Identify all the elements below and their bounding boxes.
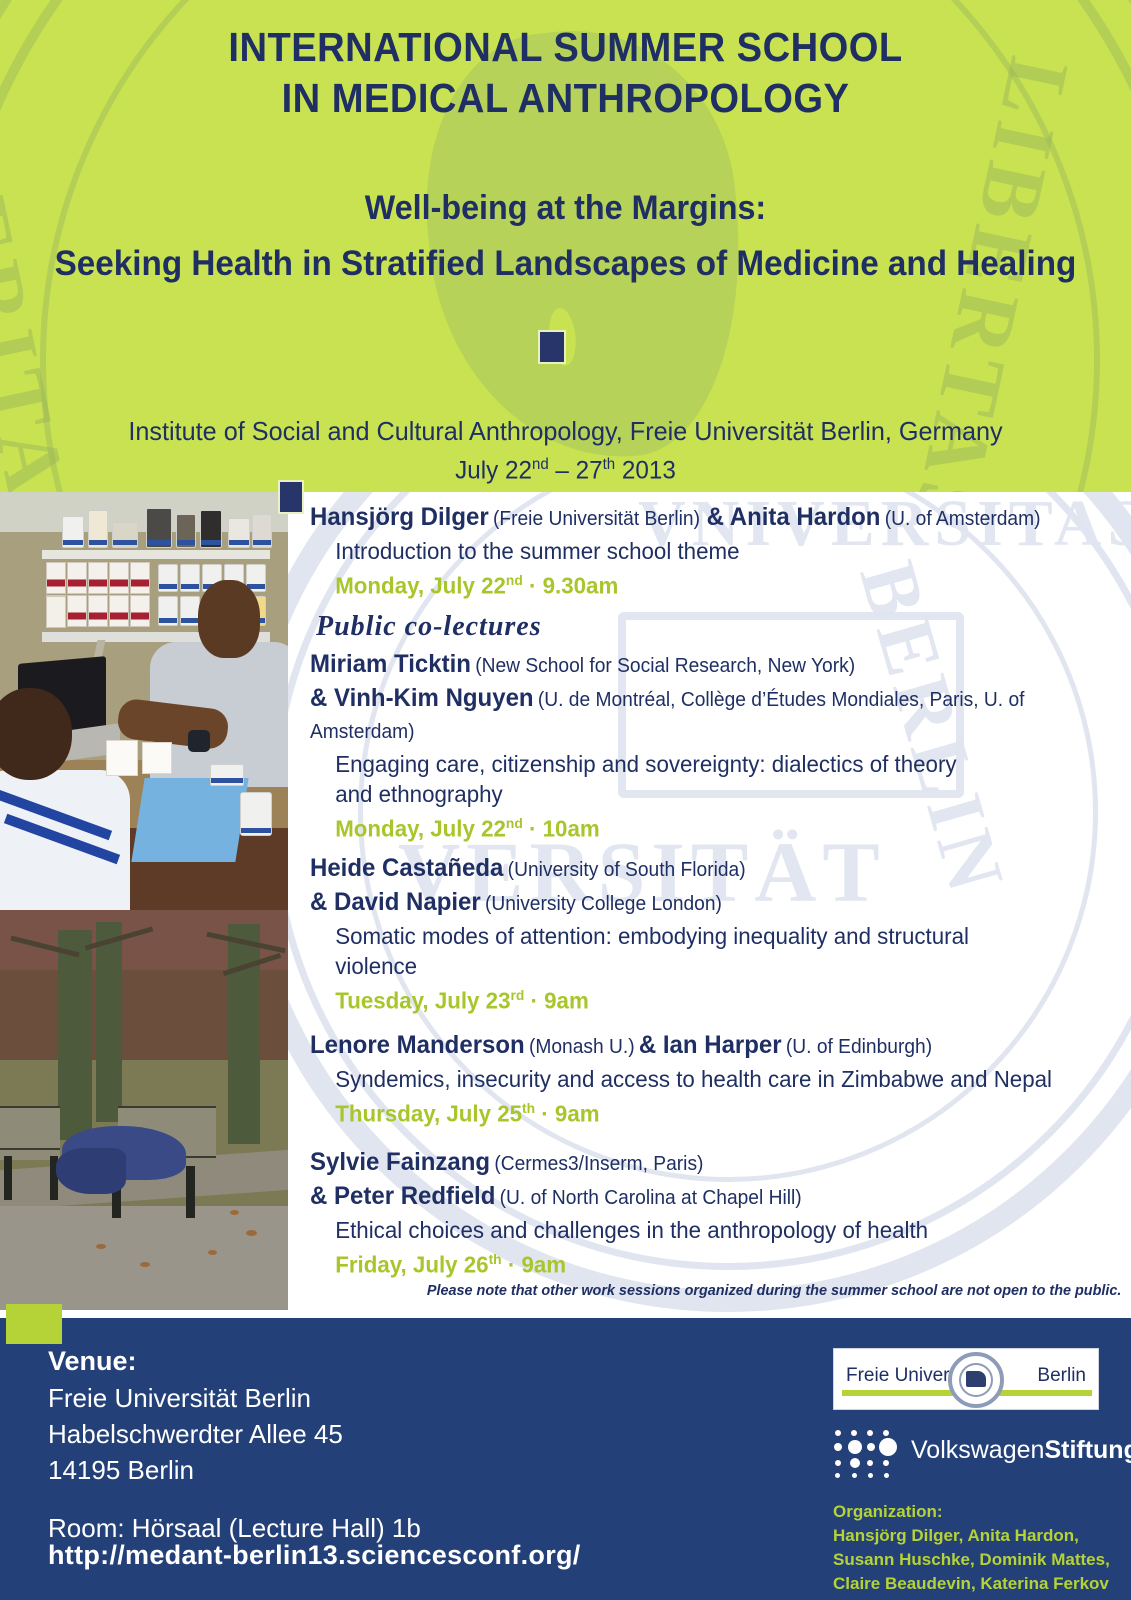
poster-subtitle: Well-being at the Margins: Seeking Healt…	[28, 180, 1102, 292]
lecture-time: · 9.30am	[523, 573, 618, 599]
vw-logo-dot-grid-icon	[833, 1428, 901, 1480]
lecture-title: Ethical choices and challenges in the an…	[310, 1215, 1096, 1245]
date-mid: – 27	[549, 456, 603, 484]
date-suffix: 2013	[615, 456, 676, 484]
organization-block: Organization: Hansjörg Dilger, Anita Har…	[833, 1500, 1110, 1596]
page-title: INTERNATIONAL SUMMER SCHOOL IN MEDICAL A…	[40, 22, 1092, 124]
lecture-date-ordinal: nd	[506, 816, 523, 832]
speaker-name: & Ian Harper	[639, 1031, 782, 1059]
speaker-name: Anita Hardon	[730, 503, 881, 531]
organization-label: Organization:	[833, 1500, 1110, 1524]
speaker-name: & Peter Redfield	[310, 1182, 495, 1210]
lecture-time: · 9am	[524, 988, 588, 1014]
date-ordinal-1: nd	[532, 456, 549, 473]
lecture-date-prefix: Tuesday, July 23	[335, 988, 510, 1014]
lecture-date-prefix: Monday, July 22	[335, 815, 506, 841]
lecture-datetime: Monday, July 22nd · 9.30am	[310, 566, 1096, 601]
venue-line-2: Habelschwerdter Allee 45	[48, 1416, 421, 1452]
venue-block: Venue: Freie Universität Berlin Habelsch…	[48, 1342, 421, 1546]
speaker-line: Sylvie Fainzang (Cermes3/Inserm, Paris)	[310, 1147, 1088, 1181]
program-entry-3: Lenore Manderson (Monash U.) & Ian Harpe…	[310, 1030, 1120, 1129]
section-heading-public-co-lectures: Public co-lectures	[316, 611, 1120, 643]
speaker-line: Lenore Manderson (Monash U.) & Ian Harpe…	[310, 1030, 1088, 1064]
lecture-title-cont: and ethnography	[310, 779, 1096, 809]
website-url-link[interactable]: http://medant-berlin13.sciencesconf.org/	[48, 1540, 581, 1571]
lecture-title-cont: violence	[310, 951, 1096, 981]
decorative-green-chip	[6, 1304, 62, 1344]
speaker-affiliation: (University College London)	[485, 893, 722, 915]
fu-logo-text-right: Berlin	[1037, 1365, 1086, 1387]
lecture-title: Introduction to the summer school theme	[310, 536, 1096, 566]
lecture-title: Syndemics, insecurity and access to heal…	[310, 1064, 1096, 1094]
institute-line: Institute of Social and Cultural Anthrop…	[17, 415, 1114, 448]
speaker-line: & Vinh-Kim Nguyen (U. de Montréal, Collè…	[310, 683, 1088, 749]
page-title-line-2: IN MEDICAL ANTHROPOLOGY	[40, 73, 1092, 124]
speaker-name: Lenore Manderson	[310, 1031, 525, 1059]
speaker-name: Miriam Ticktin	[310, 650, 471, 678]
lecture-date-ordinal: nd	[506, 573, 523, 589]
public-sessions-note: Please note that other work sessions org…	[322, 1282, 1131, 1299]
page-title-line-1: INTERNATIONAL SUMMER SCHOOL	[40, 22, 1092, 73]
photo-pharmacy-consultation	[0, 492, 288, 910]
lecture-time: · 10am	[523, 815, 600, 841]
photo-park-bench	[0, 910, 288, 1310]
speaker-affiliation: (Cermes3/Inserm, Paris)	[494, 1153, 703, 1175]
poster-header: VERITAS LIBERTAS INTERNATIONAL SUMMER SC…	[0, 0, 1131, 492]
speaker-line: & Peter Redfield (U. of North Carolina a…	[310, 1181, 1088, 1215]
lecture-date-prefix: Monday, July 22	[335, 573, 506, 599]
program-entry-intro: Hansjörg Dilger (Freie Universität Berli…	[310, 502, 1120, 601]
volkswagenstiftung-logo: VolkswagenStiftung	[833, 1424, 1103, 1484]
vw-logo-wordmark: VolkswagenStiftung	[911, 1436, 1131, 1465]
lecture-date-prefix: Friday, July 26	[335, 1251, 488, 1277]
organization-line-1: Hansjörg Dilger, Anita Hardon,	[833, 1524, 1110, 1548]
subtitle-line-1: Well-being at the Margins:	[28, 180, 1102, 236]
date-prefix: July 22	[455, 456, 532, 484]
program-entry-4: Sylvie Fainzang (Cermes3/Inserm, Paris) …	[310, 1147, 1120, 1280]
speaker-line: Miriam Ticktin (New School for Social Re…	[310, 649, 1088, 683]
date-ordinal-2: th	[603, 456, 616, 473]
speaker-affiliation: (University of South Florida)	[508, 859, 746, 881]
lecture-datetime: Tuesday, July 23rd · 9am	[310, 981, 1096, 1016]
speaker-affiliation: (U. of Amsterdam)	[885, 508, 1041, 530]
speaker-line: Heide Castañeda (University of South Flo…	[310, 853, 1088, 887]
lecture-date-ordinal: th	[522, 1101, 535, 1117]
program-entry-1: Miriam Ticktin (New School for Social Re…	[310, 649, 1120, 844]
decorative-square-header	[538, 330, 566, 364]
speaker-separator: &	[700, 503, 730, 531]
speaker-affiliation: (Monash U.)	[529, 1036, 635, 1058]
organization-line-2: Susann Huschke, Dominik Mattes,	[833, 1548, 1110, 1572]
speaker-affiliation: (New School for Social Research, New Yor…	[475, 655, 855, 677]
poster-footer: Venue: Freie Universität Berlin Habelsch…	[0, 1318, 1131, 1600]
lecture-title: Somatic modes of attention: embodying in…	[310, 921, 1096, 951]
organization-line-3: Claire Beaudevin, Katerina Ferkov	[833, 1572, 1110, 1596]
speaker-line: Hansjörg Dilger (Freie Universität Berli…	[310, 502, 1088, 536]
decorative-square-panel	[278, 480, 304, 514]
fu-logo-seal-icon	[948, 1352, 1004, 1408]
speaker-affiliation: (U. of North Carolina at Chapel Hill)	[500, 1187, 802, 1209]
speaker-name: Heide Castañeda	[310, 854, 503, 882]
vw-wordmark-light: Volkswagen	[911, 1436, 1044, 1464]
poster-root: VERITAS LIBERTAS INTERNATIONAL SUMMER SC…	[0, 0, 1131, 1600]
freie-universitaet-berlin-logo: Freie Universität Berlin	[833, 1348, 1099, 1410]
subtitle-line-2: Seeking Health in Stratified Landscapes …	[28, 236, 1102, 292]
program-panel: VNIVERSITAS BERLIN VERSITÄT Hansjörg Dil…	[288, 492, 1131, 1318]
vw-wordmark-bold: Stiftung	[1044, 1436, 1131, 1464]
lecture-time: · 9am	[502, 1251, 566, 1277]
lecture-datetime: Thursday, July 25th · 9am	[310, 1094, 1096, 1129]
speaker-affiliation: (Freie Universität Berlin)	[493, 508, 700, 530]
venue-line-1: Freie Universität Berlin	[48, 1380, 421, 1416]
lecture-date-prefix: Thursday, July 25	[335, 1101, 522, 1127]
lecture-datetime: Monday, July 22nd · 10am	[310, 809, 1096, 844]
program-entry-2: Heide Castañeda (University of South Flo…	[310, 853, 1120, 1016]
speaker-affiliation: (U. of Edinburgh)	[786, 1036, 932, 1058]
date-line: July 22nd – 27th 2013	[17, 448, 1114, 487]
speaker-name: & Vinh-Kim Nguyen	[310, 684, 534, 712]
lecture-time: · 9am	[535, 1101, 599, 1127]
program-content: Hansjörg Dilger (Freie Universität Berli…	[310, 502, 1120, 1289]
lecture-title: Engaging care, citizenship and sovereign…	[310, 749, 1096, 779]
lecture-date-ordinal: th	[489, 1252, 502, 1268]
speaker-name: Hansjörg Dilger	[310, 503, 489, 531]
lecture-datetime: Friday, July 26th · 9am	[310, 1245, 1096, 1280]
venue-line-3: 14195 Berlin	[48, 1452, 421, 1488]
speaker-name: Sylvie Fainzang	[310, 1148, 490, 1176]
speaker-name: & David Napier	[310, 888, 481, 916]
speaker-line: & David Napier (University College Londo…	[310, 887, 1088, 921]
institute-block: Institute of Social and Cultural Anthrop…	[17, 415, 1114, 487]
venue-label: Venue:	[48, 1342, 421, 1380]
lecture-date-ordinal: rd	[510, 988, 524, 1004]
